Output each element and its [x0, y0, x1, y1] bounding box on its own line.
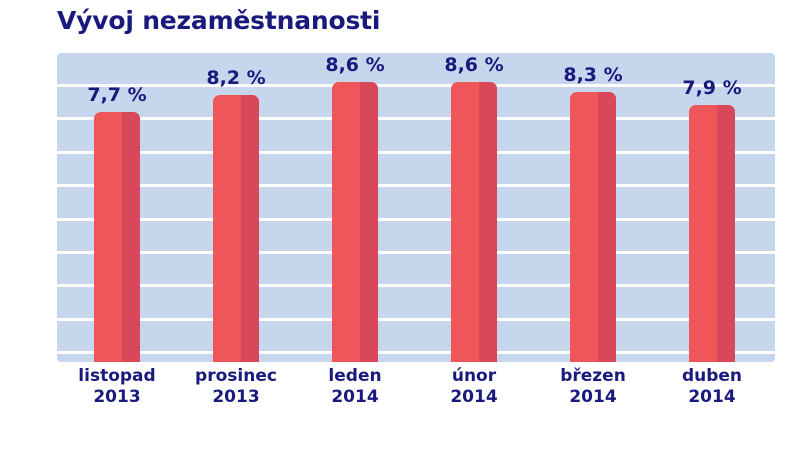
category-month: březen: [560, 366, 626, 387]
bar: [94, 112, 140, 362]
bar-shade: [360, 82, 378, 362]
category-month: únor: [450, 366, 497, 387]
category-label: prosinec2013: [195, 366, 277, 408]
bar-value-label: 7,9 %: [682, 77, 741, 99]
category-label: březen2014: [560, 366, 626, 408]
bar: [213, 95, 259, 362]
page-title: Vývoj nezaměstnanosti: [57, 6, 380, 35]
category-month: listopad: [78, 366, 155, 387]
category-label: listopad2013: [78, 366, 155, 408]
bars-layer: [57, 53, 775, 362]
bar: [689, 105, 735, 362]
bar-shade: [598, 92, 616, 362]
bar-value-label: 7,7 %: [87, 84, 146, 106]
category-label: duben2014: [682, 366, 742, 408]
bar-value-label: 8,3 %: [563, 64, 622, 86]
category-year: 2013: [195, 387, 277, 408]
category-year: 2014: [560, 387, 626, 408]
category-month: duben: [682, 366, 742, 387]
category-year: 2014: [450, 387, 497, 408]
chart-figure: Vývoj nezaměstnanosti 7,7 %8,2 %8,6 %8,6…: [0, 0, 800, 449]
category-month: leden: [328, 366, 381, 387]
bar: [570, 92, 616, 362]
bar-value-label: 8,2 %: [206, 67, 265, 89]
bar: [451, 82, 497, 362]
category-label: leden2014: [328, 366, 381, 408]
bar-value-label: 8,6 %: [444, 54, 503, 76]
category-year: 2014: [682, 387, 742, 408]
bar-shade: [717, 105, 735, 362]
bar-shade: [479, 82, 497, 362]
category-year: 2013: [78, 387, 155, 408]
bar: [332, 82, 378, 362]
plot-area: [57, 53, 775, 362]
category-label: únor2014: [450, 366, 497, 408]
bar-shade: [241, 95, 259, 362]
category-year: 2014: [328, 387, 381, 408]
bar-value-label: 8,6 %: [325, 54, 384, 76]
bar-shade: [122, 112, 140, 362]
category-month: prosinec: [195, 366, 277, 387]
